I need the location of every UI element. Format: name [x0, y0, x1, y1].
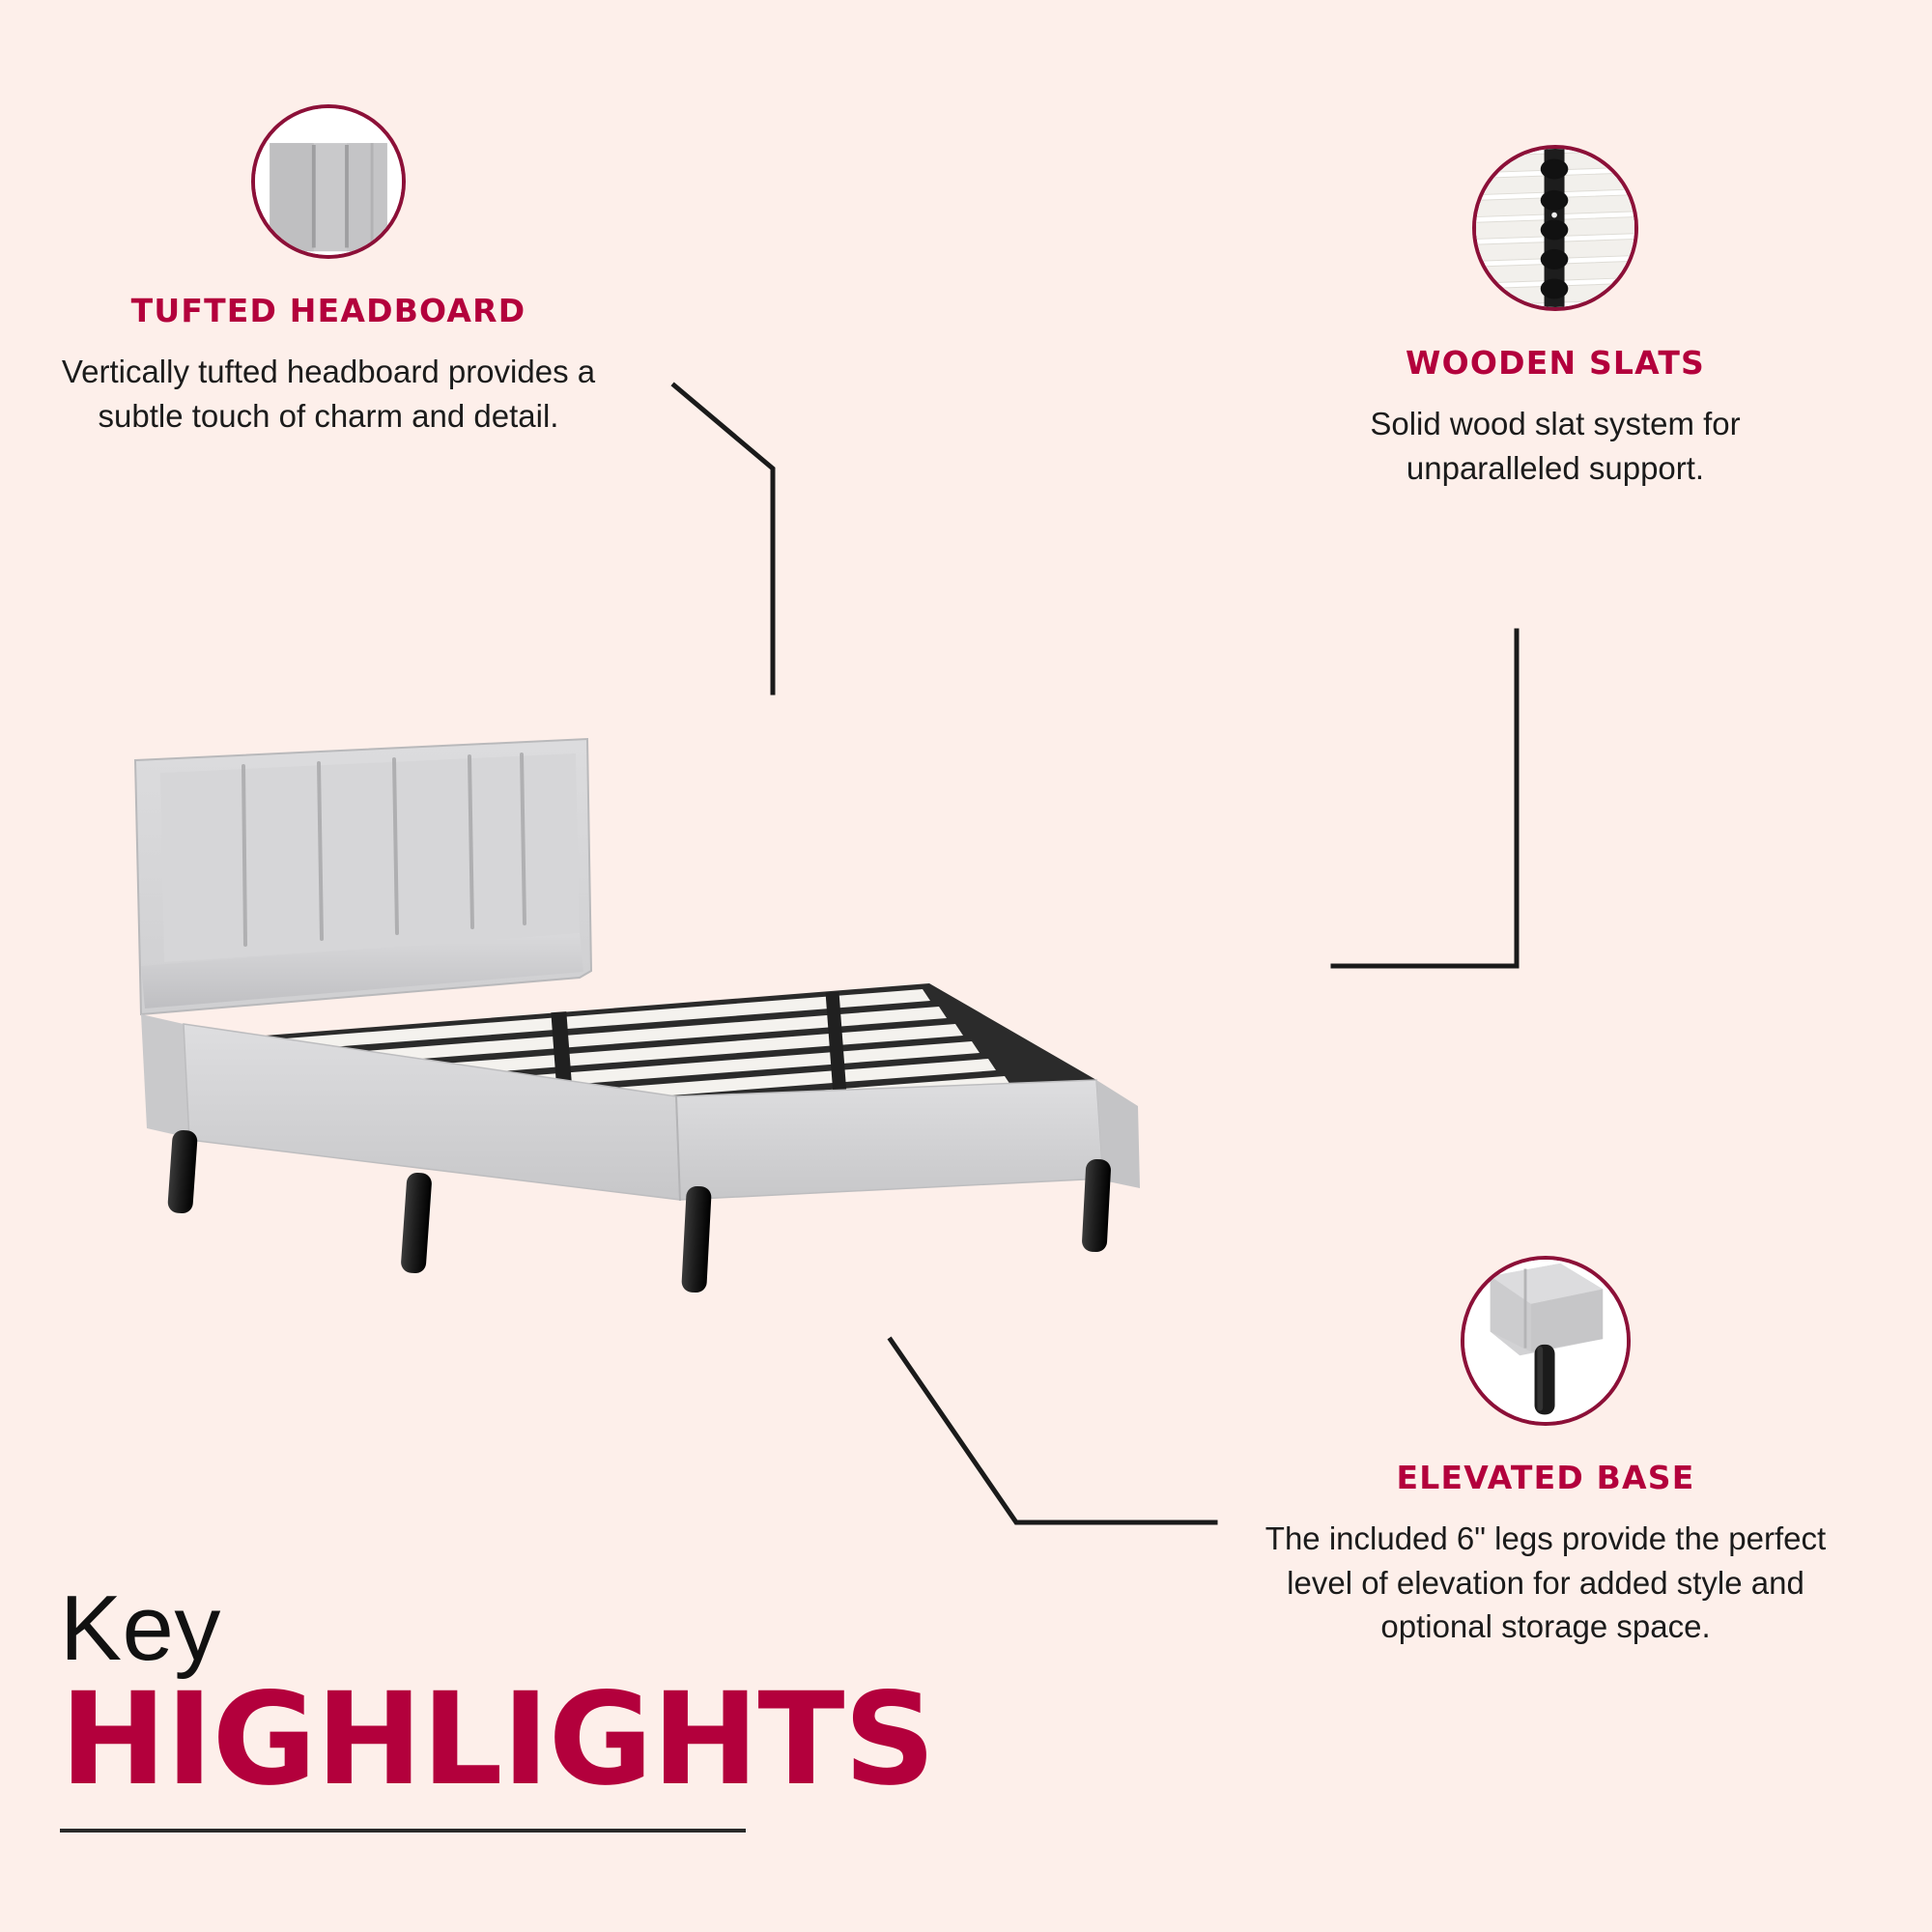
title-line-highlights: HIGHLIGHTS: [60, 1676, 755, 1804]
elevated-base-leg-photo: [1461, 1256, 1631, 1426]
key-highlights-title-block: Key HIGHLIGHTS: [60, 1584, 755, 1833]
feature-body: The included 6" legs provide the perfect…: [1246, 1517, 1845, 1649]
tufted-headboard-photo: [251, 104, 406, 259]
feature-title: ELEVATED BASE: [1246, 1461, 1845, 1495]
title-line-key: Key: [60, 1584, 755, 1672]
feature-title: TUFTED HEADBOARD: [58, 294, 599, 328]
feature-elevated-base: ELEVATED BASE The included 6" legs provi…: [1246, 1256, 1845, 1649]
feature-body: Vertically tufted headboard provides a s…: [58, 350, 599, 438]
feature-title: WOODEN SLATS: [1285, 346, 1826, 381]
feature-wooden-slats: WOODEN SLATS Solid wood slat system for …: [1285, 145, 1826, 490]
wooden-slats-photo: [1472, 145, 1638, 311]
title-underline-rule: [60, 1829, 746, 1833]
feature-tufted-headboard: TUFTED HEADBOARD Vertically tufted headb…: [58, 104, 599, 438]
feature-body: Solid wood slat system for unparalleled …: [1285, 402, 1826, 490]
infographic-canvas: TUFTED HEADBOARD Vertically tufted headb…: [0, 0, 1932, 1932]
